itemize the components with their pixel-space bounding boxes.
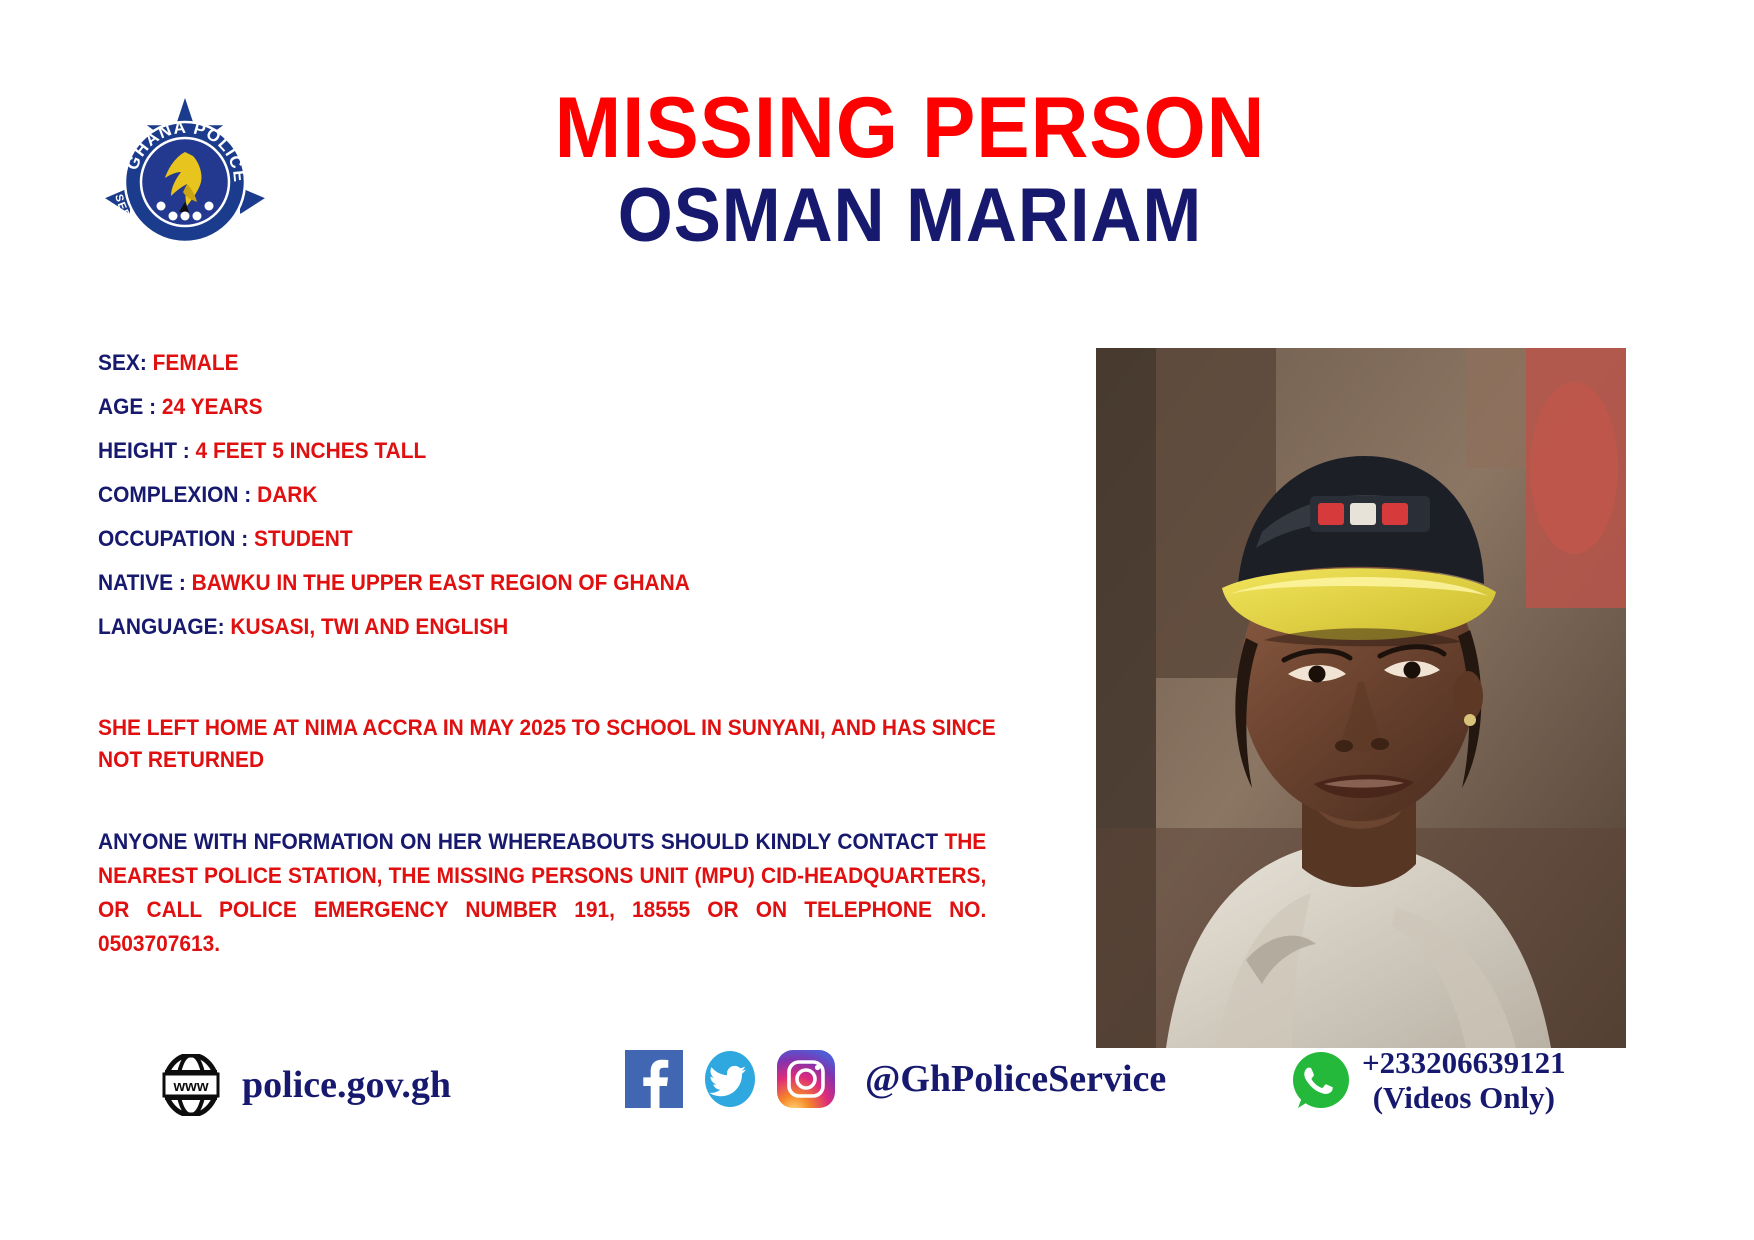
case-narrative: SHE LEFT HOME AT NIMA ACCRA IN MAY 2025 … bbox=[98, 712, 1001, 776]
poster-header: GHANA POLICE SERVICE WITH INTEGRITY MISS… bbox=[0, 0, 1754, 290]
detail-value: FEMALE bbox=[153, 350, 239, 375]
detail-row-native: NATIVE : BAWKU IN THE UPPER EAST REGION … bbox=[98, 572, 915, 594]
detail-label: COMPLEXION : bbox=[98, 482, 251, 507]
person-details-list: SEX: FEMALE AGE : 24 YEARS HEIGHT : 4 FE… bbox=[98, 352, 958, 660]
detail-label: SEX: bbox=[98, 350, 147, 375]
detail-row-sex: SEX: FEMALE bbox=[98, 352, 915, 374]
missing-person-poster: GHANA POLICE SERVICE WITH INTEGRITY MISS… bbox=[0, 0, 1754, 1240]
detail-label: NATIVE : bbox=[98, 570, 186, 595]
person-name-title: OSMAN MARIAM bbox=[371, 176, 1450, 256]
website-url[interactable]: police.gov.gh bbox=[242, 1063, 451, 1107]
detail-value: KUSASI, TWI AND ENGLISH bbox=[230, 614, 508, 639]
social-handle[interactable]: @GhPoliceService bbox=[865, 1057, 1166, 1101]
detail-row-height: HEIGHT : 4 FEET 5 INCHES TALL bbox=[98, 440, 915, 462]
page-title: MISSING PERSON bbox=[371, 86, 1450, 170]
www-globe-icon: www bbox=[162, 1054, 220, 1116]
contact-instruction-lead: ANYONE WITH NFORMATION ON HER WHEREABOUT… bbox=[98, 829, 944, 854]
person-photo bbox=[1096, 348, 1626, 1048]
detail-row-complexion: COMPLEXION : DARK bbox=[98, 484, 915, 506]
instagram-icon[interactable] bbox=[777, 1050, 835, 1108]
social-group[interactable]: @GhPoliceService bbox=[625, 1050, 1166, 1108]
whatsapp-icon[interactable] bbox=[1290, 1050, 1352, 1112]
whatsapp-group[interactable]: +233206639121 (Videos Only) bbox=[1290, 1046, 1566, 1115]
poster-footer: www police.gov.gh bbox=[0, 1046, 1754, 1156]
ghana-police-crest-icon: GHANA POLICE SERVICE WITH INTEGRITY bbox=[95, 90, 275, 270]
poster-titles: MISSING PERSON OSMAN MARIAM bbox=[330, 86, 1490, 256]
detail-value: 24 YEARS bbox=[162, 394, 263, 419]
svg-text:www: www bbox=[172, 1078, 208, 1095]
detail-label: LANGUAGE: bbox=[98, 614, 225, 639]
detail-value: BAWKU IN THE UPPER EAST REGION OF GHANA bbox=[192, 570, 690, 595]
detail-value: STUDENT bbox=[254, 526, 353, 551]
detail-value: 4 FEET 5 INCHES TALL bbox=[196, 438, 427, 463]
whatsapp-number: +233206639121 bbox=[1362, 1045, 1566, 1080]
whatsapp-contact[interactable]: +233206639121 (Videos Only) bbox=[1362, 1046, 1566, 1115]
facebook-icon[interactable] bbox=[625, 1050, 683, 1108]
detail-row-age: AGE : 24 YEARS bbox=[98, 396, 915, 418]
whatsapp-note: (Videos Only) bbox=[1373, 1080, 1555, 1115]
website-group[interactable]: www police.gov.gh bbox=[162, 1054, 451, 1116]
contact-instructions: ANYONE WITH NFORMATION ON HER WHEREABOUT… bbox=[98, 825, 986, 961]
detail-value: DARK bbox=[257, 482, 317, 507]
detail-label: AGE : bbox=[98, 394, 156, 419]
detail-label: OCCUPATION : bbox=[98, 526, 248, 551]
detail-row-occupation: OCCUPATION : STUDENT bbox=[98, 528, 915, 550]
detail-label: HEIGHT : bbox=[98, 438, 190, 463]
twitter-icon[interactable] bbox=[701, 1050, 759, 1108]
detail-row-language: LANGUAGE: KUSASI, TWI AND ENGLISH bbox=[98, 616, 915, 638]
